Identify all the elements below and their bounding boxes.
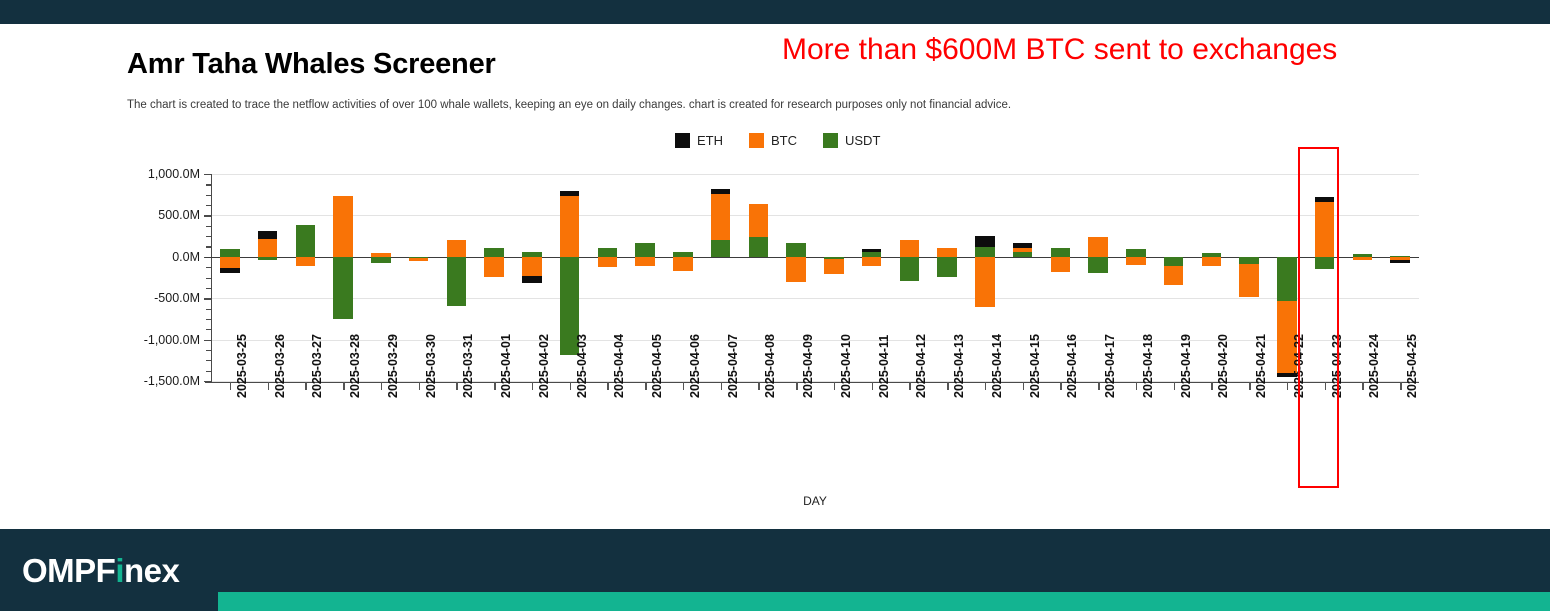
bar-segment-usdt [786,243,806,257]
x-axis-tick [721,382,722,390]
y-axis-label: 0.0M [90,250,200,264]
bar-segment-btc [673,257,693,271]
bar-segment-btc [937,248,957,257]
x-axis-tick [268,382,269,390]
bar-segment-usdt [333,257,353,319]
bar-segment-btc [900,240,920,257]
page-title: Amr Taha Whales Screener [127,48,496,81]
x-axis-label: 2025-03-25 [235,334,249,398]
legend-label: USDT [845,133,880,148]
x-axis-label: 2025-04-06 [688,334,702,398]
gridline [211,174,1419,175]
x-axis-tick [947,382,948,390]
bar-segment-btc [484,257,504,278]
gridline [211,215,1419,216]
bar-segment-usdt [711,240,731,257]
x-axis-label: 2025-04-20 [1216,334,1230,398]
y-axis-label: -500.0M [90,291,200,305]
x-axis-label: 2025-04-17 [1103,334,1117,398]
x-axis-label: 2025-04-07 [726,334,740,398]
x-axis-tick [607,382,608,390]
x-axis-tick [1060,382,1061,390]
x-axis-tick [796,382,797,390]
brand-main: OMPF [22,552,115,589]
bar-segment-btc [1126,257,1146,265]
bar-segment-usdt [1239,257,1259,264]
bar-segment-btc [296,257,316,266]
x-axis-tick [1174,382,1175,390]
x-axis-label: 2025-04-12 [914,334,928,398]
x-axis-label: 2025-04-04 [612,334,626,398]
bar-segment-btc [635,257,655,266]
bar-segment-btc [598,257,618,267]
y-axis-minor-tick [206,267,212,268]
bar-segment-btc [258,239,278,257]
legend-item-eth[interactable]: ETH [675,133,723,148]
bar-segment-eth [711,189,731,194]
legend-swatch-usdt-icon [823,133,838,148]
y-axis-label: -1,000.0M [90,333,200,347]
x-axis-label: 2025-04-10 [839,334,853,398]
bar-segment-usdt [1013,252,1033,257]
bar-segment-btc [1051,257,1071,272]
bar-segment-btc [447,240,467,257]
highlight-box-2025-04-23 [1298,147,1339,488]
bar-segment-usdt [900,257,920,281]
bar-segment-usdt [371,257,391,263]
x-axis-tick [683,382,684,390]
bar-segment-btc [711,194,731,240]
legend-item-btc[interactable]: BTC [749,133,797,148]
bar-segment-usdt [1088,257,1108,273]
brand-accent: i [115,552,124,589]
page-root: Amr Taha Whales Screener The chart is cr… [0,0,1550,611]
x-axis-label: 2025-04-24 [1367,334,1381,398]
x-axis-label: 2025-03-31 [461,334,475,398]
y-axis-minor-tick [206,246,212,247]
bar-segment-usdt [1164,257,1184,266]
bar-segment-btc [1202,257,1222,266]
bar-segment-btc [1088,237,1108,257]
y-axis-minor-tick [206,205,212,206]
x-axis-tick [645,382,646,390]
y-axis-label: 500.0M [90,208,200,222]
top-chrome-bar [0,0,1550,24]
gridline [211,298,1419,299]
x-axis-label: 2025-04-25 [1405,334,1419,398]
x-axis-tick [305,382,306,390]
y-axis-minor-tick [206,288,212,289]
x-axis-title: DAY [211,494,1419,508]
chart-annotation: More than $600M BTC sent to exchanges [782,33,1337,67]
x-axis-label: 2025-04-21 [1254,334,1268,398]
bar-segment-usdt [937,257,957,277]
y-axis-minor-tick [206,236,212,237]
x-axis-tick [1136,382,1137,390]
x-axis-label: 2025-04-05 [650,334,664,398]
bar-segment-usdt [598,248,618,257]
bar-segment-usdt [1126,249,1146,256]
x-axis-label: 2025-04-13 [952,334,966,398]
y-axis-minor-tick [206,195,212,196]
x-axis-tick [985,382,986,390]
y-axis-minor-tick [206,226,212,227]
x-axis-label: 2025-04-08 [763,334,777,398]
bar-segment-eth [1390,260,1410,262]
x-axis-tick [419,382,420,390]
x-axis-tick [1362,382,1363,390]
bar-segment-btc [824,259,844,274]
bar-segment-usdt [635,243,655,257]
bar-segment-eth [258,231,278,238]
legend-label: ETH [697,133,723,148]
x-axis-label: 2025-04-15 [1028,334,1042,398]
bar-segment-usdt [296,225,316,257]
y-axis-minor-tick [206,184,212,185]
x-axis-tick [909,382,910,390]
x-axis-label: 2025-04-09 [801,334,815,398]
x-axis-label: 2025-04-16 [1065,334,1079,398]
bar-segment-usdt [975,247,995,257]
bar-segment-btc [1013,248,1033,252]
bar-segment-btc [1164,266,1184,285]
x-axis-tick [456,382,457,390]
x-axis-label: 2025-04-14 [990,334,1004,398]
y-axis-minor-tick [206,278,212,279]
chart-legend: ETHBTCUSDT [675,133,880,148]
bar-segment-btc [409,258,429,260]
x-axis-tick [230,382,231,390]
x-axis-tick [1287,382,1288,390]
y-axis-tick [204,215,212,216]
x-axis-tick [1098,382,1099,390]
bar-segment-usdt [447,257,467,307]
bar-segment-usdt [258,257,278,260]
y-axis-tick [204,174,212,175]
x-axis-tick [834,382,835,390]
bar-segment-eth [1013,243,1033,248]
bar-segment-btc [220,257,240,268]
x-axis-label: 2025-04-19 [1179,334,1193,398]
brand-tail: nex [124,552,179,589]
x-axis-tick [532,382,533,390]
x-axis-label: 2025-03-26 [273,334,287,398]
y-axis-minor-tick [206,309,212,310]
x-axis-label: 2025-04-01 [499,334,513,398]
x-axis-tick [343,382,344,390]
bar-segment-btc [786,257,806,282]
y-axis-label: 1,000.0M [90,167,200,181]
x-axis-tick [381,382,382,390]
y-axis-minor-tick [206,329,212,330]
x-axis-tick [1249,382,1250,390]
bar-segment-usdt [749,237,769,257]
x-axis-label: 2025-04-11 [877,335,891,398]
y-axis-tick [204,340,212,341]
y-axis-minor-tick [206,350,212,351]
page-subtitle: The chart is created to trace the netflo… [127,99,1011,111]
y-axis-tick [204,298,212,299]
x-axis-tick [1211,382,1212,390]
x-axis-tick [570,382,571,390]
x-axis-label: 2025-04-02 [537,334,551,398]
x-axis-label: 2025-04-18 [1141,334,1155,398]
bar-segment-eth [975,236,995,247]
x-axis-tick [1400,382,1401,390]
x-axis-label: 2025-03-30 [424,334,438,398]
y-axis-tick [204,381,212,382]
bar-segment-btc [371,253,391,256]
bar-segment-eth [522,276,542,283]
bar-segment-eth [560,191,580,195]
bar-segment-btc [1353,257,1373,260]
bar-segment-eth [862,249,882,251]
bar-segment-usdt [220,249,240,256]
x-axis-label: 2025-03-29 [386,334,400,398]
x-axis-label: 2025-03-27 [310,334,324,398]
y-axis-minor-tick [206,371,212,372]
y-axis-minor-tick [206,360,212,361]
x-axis-tick [494,382,495,390]
x-axis-label: 2025-03-28 [348,334,362,398]
bar-segment-btc [749,204,769,237]
bar-segment-usdt [484,248,504,257]
x-axis-label: 2025-04-03 [575,334,589,398]
legend-label: BTC [771,133,797,148]
x-axis-tick [1023,382,1024,390]
bar-segment-btc [862,257,882,266]
bar-segment-btc [975,257,995,308]
chart-plot-area: DAY 1,000.0M500.0M0.0M-500.0M-1,000.0M-1… [211,174,1419,381]
bar-segment-btc [333,196,353,256]
x-axis-tick [872,382,873,390]
bar-segment-btc [522,257,542,276]
y-axis-label: -1,500.0M [90,374,200,388]
legend-swatch-eth-icon [675,133,690,148]
legend-item-usdt[interactable]: USDT [823,133,880,148]
legend-swatch-btc-icon [749,133,764,148]
bar-segment-eth [220,268,240,273]
x-axis-tick [758,382,759,390]
bar-segment-usdt [1051,248,1071,257]
y-axis-minor-tick [206,319,212,320]
bar-segment-btc [1239,264,1259,297]
footer-accent-bar [218,592,1550,611]
bar-segment-btc [560,196,580,257]
bar-segment-usdt [1277,257,1297,301]
brand-logo[interactable]: OMPFinex [22,552,179,590]
